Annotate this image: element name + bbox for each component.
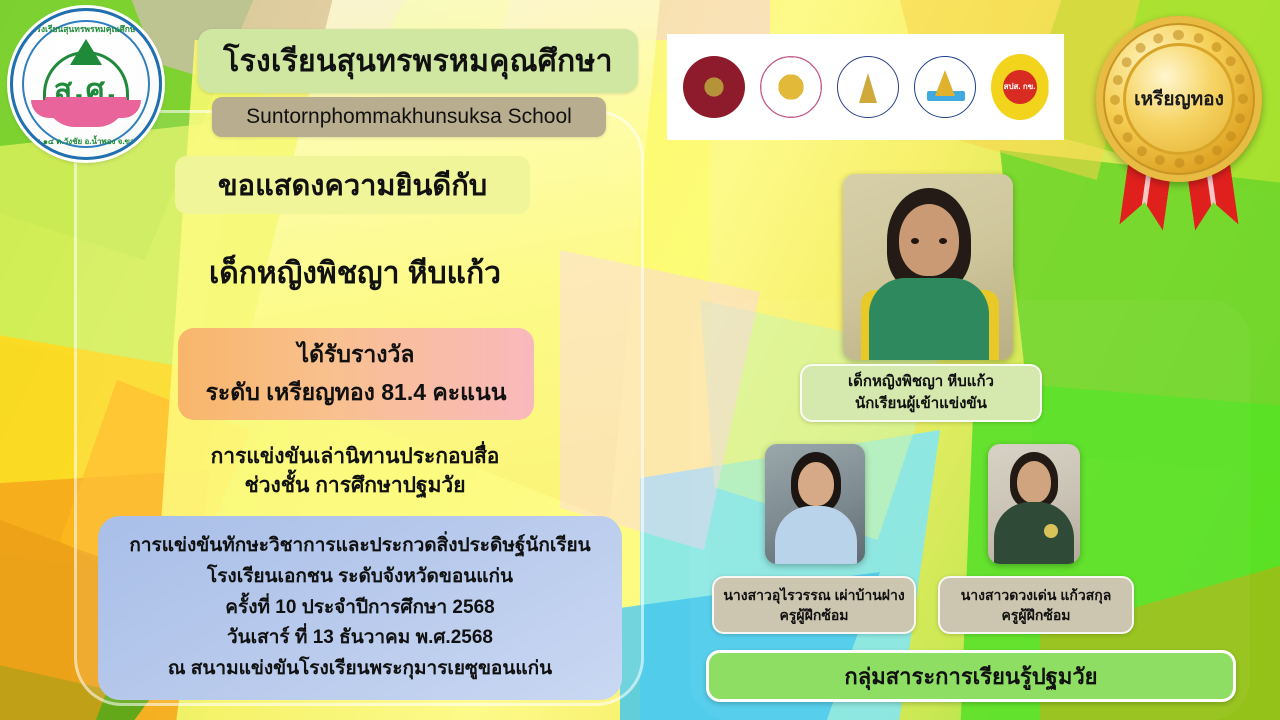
teacher-1-name: นางสาวอุไรวรรณ เผ่าบ้านฝาง (723, 585, 904, 605)
sapolor-label: สปส. กข. (1003, 70, 1037, 104)
teacher-2-face (1017, 461, 1051, 503)
detail-line-4: วันเสาร์ ที่ 13 ธันวาคม พ.ศ.2568 (227, 623, 493, 654)
student-caption: เด็กหญิงพิชญา หีบแก้ว นักเรียนผู้เข้าแข่… (800, 364, 1042, 422)
teacher-1-role: ครูผู้ฝึกซ้อม (780, 605, 849, 625)
congratulation-poster: โรงเรียนสุนทรพรหมคุณศึกษา ส.ศ. ๑๙๔ ม.๑๔ … (0, 0, 1280, 720)
teacher-2-role: ครูผู้ฝึกซ้อม (1002, 605, 1071, 625)
khonkaen-education-logo-icon (914, 56, 976, 118)
pagoda-seal-logo-icon (837, 56, 899, 118)
sapolor-kokor-logo-icon: สปส. กข. (991, 54, 1049, 120)
student-caption-name: เด็กหญิงพิชญา หีบแก้ว (848, 371, 994, 393)
competition-details-box: การแข่งขันทักษะวิชาการและประกวดสิ่งประดิ… (98, 516, 622, 700)
detail-line-1: การแข่งขันทักษะวิชาการและประกวดสิ่งประดิ… (129, 531, 590, 562)
event-line-1: การแข่งขันเล่านิทานประกอบสื่อ (120, 443, 590, 472)
department-label: กลุ่มสาระการเรียนรู้ปฐมวัย (844, 659, 1097, 694)
crest-arc-bottom-text: ๑๙๔ ม.๑๔ ต.วังชัย อ.น้ำพอง จ.ขอนแก่น (13, 135, 159, 148)
detail-line-3: ครั้งที่ 10 ประจำปีการศึกษา 2568 (225, 593, 494, 624)
laurel-wreath-icon (1110, 30, 1248, 168)
crest-arc-top-text: โรงเรียนสุนทรพรหมคุณศึกษา (13, 22, 159, 36)
congratulation-box: ขอแสดงความยินดีกับ (175, 156, 530, 214)
teacher-2-uniform (994, 502, 1074, 564)
detail-line-5: ณ สนามแข่งขันโรงเรียนพระกุมารเยซูขอนแก่น (168, 654, 552, 685)
student-name-heading: เด็กหญิงพิชญา หีบแก้ว (120, 250, 590, 297)
award-box: ได้รับรางวัล ระดับ เหรียญทอง 81.4 คะแนน (178, 328, 534, 420)
congratulation-text: ขอแสดงความยินดีกับ (218, 162, 487, 208)
student-photo (843, 174, 1013, 360)
teacher-1-photo (765, 444, 865, 564)
department-banner: กลุ่มสาระการเรียนรู้ปฐมวัย (706, 650, 1236, 702)
teacher-2-name: นางสาวดวงเด่น แก้วสกุล (961, 585, 1112, 605)
medal-disc-icon: เหรียญทอง (1096, 16, 1262, 182)
school-name-en: Suntornphommakhunsuksa School (246, 105, 572, 129)
teacher-2-caption: นางสาวดวงเด่น แก้วสกุล ครูผู้ฝึกซ้อม (938, 576, 1134, 634)
teacher-2-photo (988, 444, 1080, 564)
teacher-1-face (798, 462, 834, 506)
student-shirt (869, 278, 989, 360)
student-face (899, 204, 959, 276)
school-name-th-box: โรงเรียนสุนทรพรหมคุณศึกษา (198, 29, 638, 93)
award-line-2: ระดับ เหรียญทอง 81.4 คะแนน (206, 375, 507, 411)
student-caption-role: นักเรียนผู้เข้าแข่งขัน (855, 393, 987, 415)
partner-logos-strip: สปส. กข. (667, 34, 1064, 140)
teacher-2-badge-icon (1044, 524, 1058, 538)
ministry-emblem-logo-icon (683, 56, 745, 118)
school-crest-logo: โรงเรียนสุนทรพรหมคุณศึกษา ส.ศ. ๑๙๔ ม.๑๔ … (10, 8, 162, 160)
detail-line-2: โรงเรียนเอกชน ระดับจังหวัดขอนแก่น (207, 562, 513, 593)
teacher-1-blouse (775, 506, 857, 564)
event-line-2: ช่วงชั้น การศึกษาปฐมวัย (120, 472, 590, 501)
teacher-1-caption: นางสาวอุไรวรรณ เผ่าบ้านฝาง ครูผู้ฝึกซ้อม (712, 576, 916, 634)
private-education-logo-icon (760, 56, 822, 118)
school-name-th: โรงเรียนสุนทรพรหมคุณศึกษา (223, 38, 613, 85)
school-name-en-box: Suntornphommakhunsuksa School (212, 97, 606, 137)
award-line-1: ได้รับรางวัล (298, 337, 415, 373)
event-lines: การแข่งขันเล่านิทานประกอบสื่อ ช่วงชั้น ก… (120, 443, 590, 501)
gold-medal-badge: เหรียญทอง (1092, 10, 1266, 230)
